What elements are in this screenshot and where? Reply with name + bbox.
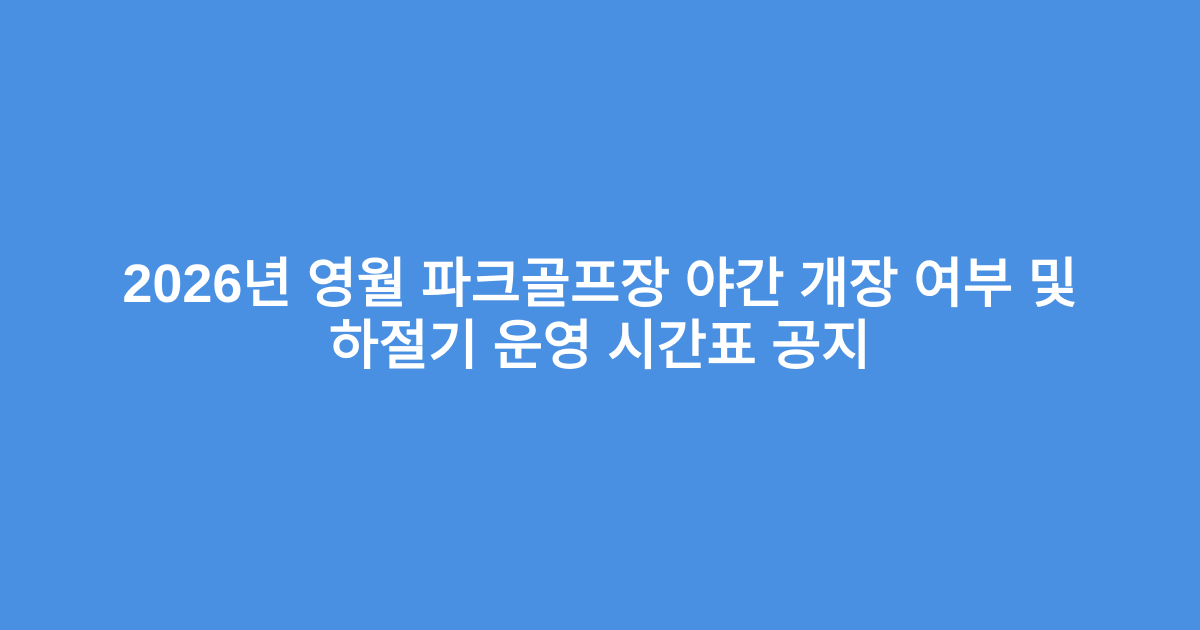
og-banner-card: 2026년 영월 파크골프장 야간 개장 여부 및 하절기 운영 시간표 공지 xyxy=(0,0,1200,630)
page-title: 2026년 영월 파크골프장 야간 개장 여부 및 하절기 운영 시간표 공지 xyxy=(60,253,1140,377)
banner-title-block: 2026년 영월 파크골프장 야간 개장 여부 및 하절기 운영 시간표 공지 xyxy=(60,253,1140,377)
